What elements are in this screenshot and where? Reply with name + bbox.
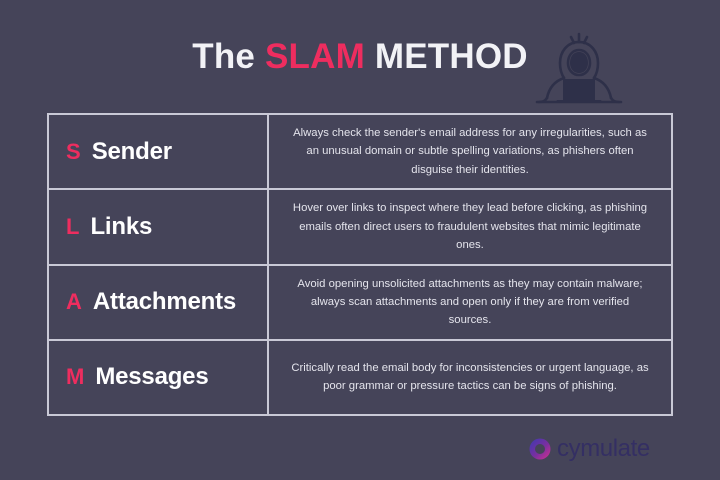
page-title: The SLAM METHOD — [192, 39, 528, 74]
slam-label-cell: S Sender — [49, 115, 269, 188]
cymulate-wordmark: cymulate — [557, 437, 650, 461]
slam-label-cell: A Attachments — [49, 266, 269, 339]
hacker-hoodie-laptop-icon — [533, 30, 625, 110]
slam-description: Critically read the email body for incon… — [291, 359, 649, 396]
cymulate-logo: cymulate — [528, 437, 650, 461]
slam-letter: S — [66, 141, 81, 163]
slam-label-cell: L Links — [49, 190, 269, 263]
slam-label-cell: M Messages — [49, 341, 269, 414]
cymulate-ring-logo-icon — [528, 437, 552, 461]
slam-letter: M — [66, 366, 84, 388]
slam-description: Avoid opening unsolicited attachments as… — [291, 275, 649, 330]
slam-letter: A — [66, 291, 82, 313]
slam-description-cell: Hover over links to inspect where they l… — [269, 190, 671, 263]
table-row: M Messages Critically read the email bod… — [49, 341, 671, 414]
slam-word: Links — [90, 215, 152, 239]
slam-word: Attachments — [93, 290, 236, 314]
slam-letter: L — [66, 216, 79, 238]
slam-description: Hover over links to inspect where they l… — [291, 199, 649, 254]
slam-description-cell: Always check the sender's email address … — [269, 115, 671, 188]
slam-word: Sender — [92, 140, 172, 164]
slam-description-cell: Avoid opening unsolicited attachments as… — [269, 266, 671, 339]
table-row: L Links Hover over links to inspect wher… — [49, 190, 671, 265]
slam-description: Always check the sender's email address … — [291, 124, 649, 179]
title-accent: SLAM — [265, 37, 365, 76]
slam-word: Messages — [95, 365, 208, 389]
slam-table: S Sender Always check the sender's email… — [47, 113, 673, 416]
table-row: S Sender Always check the sender's email… — [49, 115, 671, 190]
title-suffix: METHOD — [365, 37, 528, 76]
title-prefix: The — [192, 37, 265, 76]
slam-description-cell: Critically read the email body for incon… — [269, 341, 671, 414]
table-row: A Attachments Avoid opening unsolicited … — [49, 266, 671, 341]
